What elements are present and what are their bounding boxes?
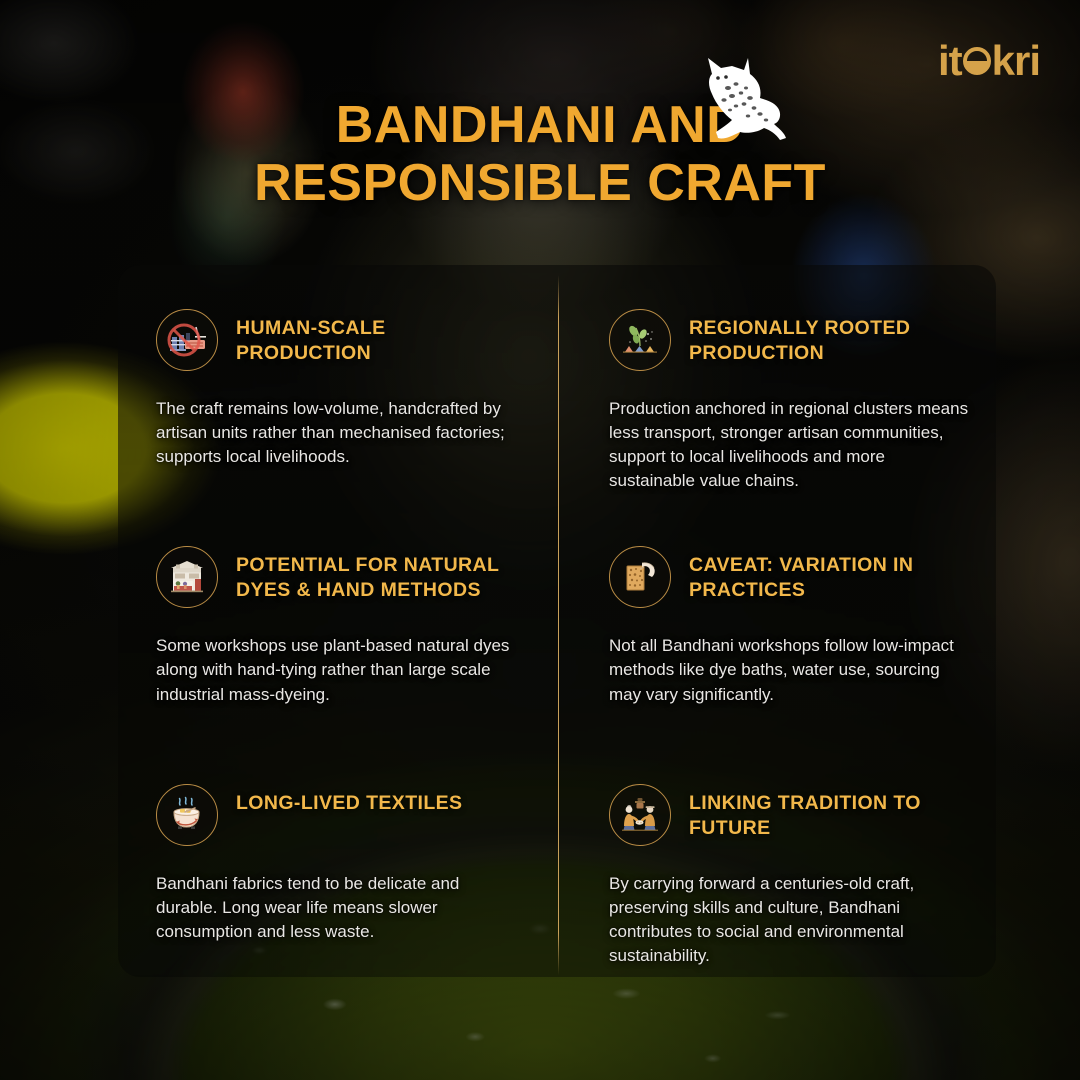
feature-body: Some workshops use plant-based natural d… (156, 634, 515, 706)
sprout-soil-icon (609, 309, 671, 371)
feature-header: REGIONALLY ROOTED PRODUCTION (609, 309, 970, 371)
feature-cell-caveat-variation-in-practices: CAVEAT: VARIATION IN PRACTICES Not all B… (557, 502, 996, 739)
feature-title: HUMAN-SCALE PRODUCTION (236, 316, 511, 366)
page-title-line-2: RESPONSIBLE CRAFT (120, 154, 960, 212)
brand-logo-basket-o-icon (963, 47, 991, 75)
feature-body: Bandhani fabrics tend to be delicate and… (156, 872, 515, 944)
feature-header: HUMAN-SCALE PRODUCTION (156, 309, 515, 371)
feature-cell-linking-tradition-to-future: LINKING TRADITION TO FUTURE By carrying … (557, 740, 996, 977)
feature-body: By carrying forward a centuries-old craf… (609, 872, 970, 969)
feature-grid: HUMAN-SCALE PRODUCTION The craft remains… (118, 265, 996, 977)
feature-body: Not all Bandhani workshops follow low-im… (609, 634, 970, 706)
feature-header: LINKING TRADITION TO FUTURE (609, 784, 970, 846)
hand-holding-fabric-icon (609, 546, 671, 608)
feature-body: The craft remains low-volume, handcrafte… (156, 397, 515, 469)
brand-logo-text-left: it (938, 40, 962, 82)
infographic-canvas: it kri BANDHANI AND RESPONSIBLE CRAFT (0, 0, 1080, 1080)
feature-cell-regionally-rooted-production: REGIONALLY ROOTED PRODUCTION Production … (557, 265, 996, 502)
brand-logo[interactable]: it kri (938, 40, 1040, 82)
feature-header: LONG-LIVED TEXTILES (156, 784, 515, 846)
brand-logo-text-right: kri (992, 40, 1040, 82)
page-title: BANDHANI AND RESPONSIBLE CRAFT (0, 96, 1080, 212)
feature-cell-human-scale-production: HUMAN-SCALE PRODUCTION The craft remains… (118, 265, 557, 502)
feature-cell-natural-dyes-hand-methods: POTENTIAL FOR NATURAL DYES & HAND METHOD… (118, 502, 557, 739)
feature-header: CAVEAT: VARIATION IN PRACTICES (609, 546, 970, 608)
feature-body: Production anchored in regional clusters… (609, 397, 970, 494)
feature-title: REGIONALLY ROOTED PRODUCTION (689, 316, 957, 366)
feature-title: POTENTIAL FOR NATURAL DYES & HAND METHOD… (236, 553, 511, 603)
feature-title: LINKING TRADITION TO FUTURE (689, 791, 957, 841)
feature-title: LONG-LIVED TEXTILES (236, 791, 462, 816)
steaming-dye-pot-icon (156, 784, 218, 846)
page-title-line-1: BANDHANI AND (120, 96, 960, 154)
no-factory-icon (156, 309, 218, 371)
content-panel: HUMAN-SCALE PRODUCTION The craft remains… (118, 265, 996, 977)
two-artisans-icon (609, 784, 671, 846)
feature-header: POTENTIAL FOR NATURAL DYES & HAND METHOD… (156, 546, 515, 608)
workshop-stall-icon (156, 546, 218, 608)
feature-cell-long-lived-textiles: LONG-LIVED TEXTILES Bandhani fabrics ten… (118, 740, 557, 977)
feature-title: CAVEAT: VARIATION IN PRACTICES (689, 553, 957, 603)
